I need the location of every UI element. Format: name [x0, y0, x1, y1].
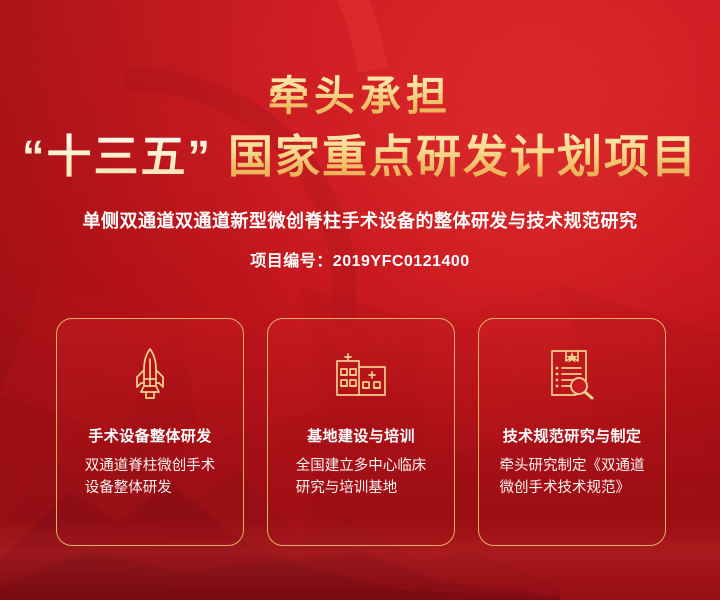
project-number: 项目编号：2019YFC0121400 — [0, 247, 720, 271]
banner-content: 牵头承担 “十三五”国家重点研发计划项目 单侧双通道双通道新型微创脊柱手术设备的… — [0, 0, 720, 600]
title-five-year-plan: “十三五” — [22, 131, 212, 182]
title-national-program: 国家重点研发计划项目 — [228, 131, 698, 182]
title-line-2: “十三五”国家重点研发计划项目 — [0, 132, 720, 182]
title-line-1: 牵头承担 — [0, 74, 720, 118]
project-subtitle: 单侧双通道双通道新型微创脊柱手术设备的整体研发与技术规范研究 — [0, 207, 720, 233]
project-banner: 牵头承担 “十三五”国家重点研发计划项目 单侧双通道双通道新型微创脊柱手术设备的… — [0, 0, 720, 600]
title-block: 牵头承担 “十三五”国家重点研发计划项目 — [0, 0, 720, 183]
